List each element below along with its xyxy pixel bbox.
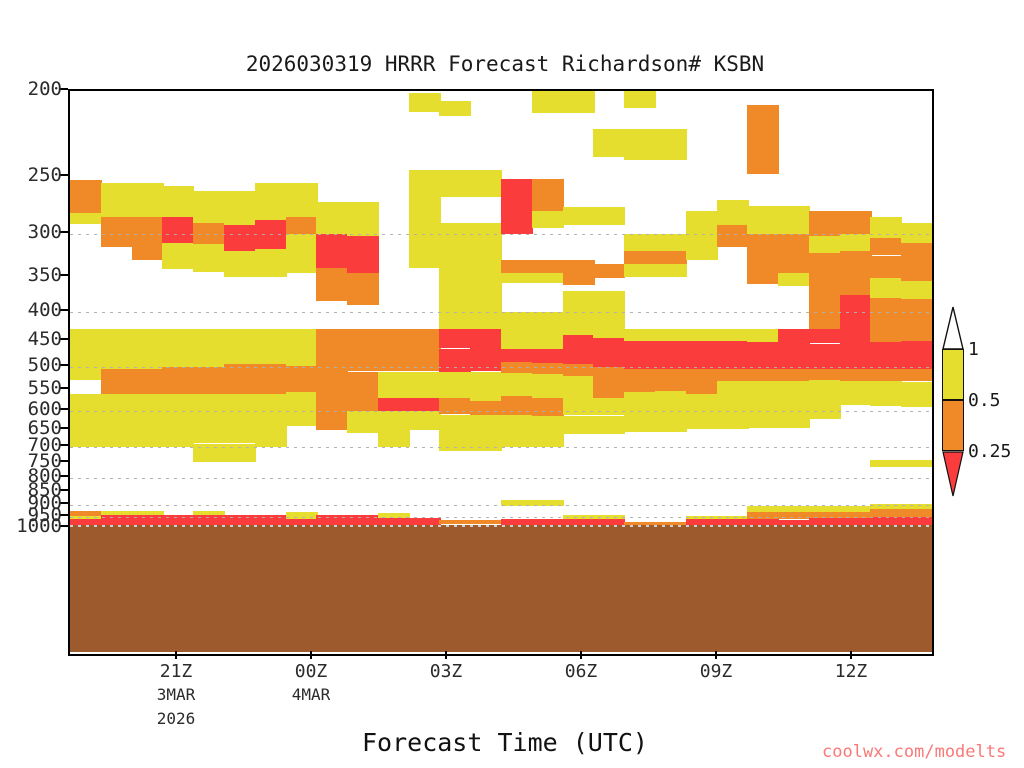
heatmap-cell: [439, 433, 471, 451]
x-tick-sublabel-date: 3MAR: [157, 685, 196, 704]
heatmap-cell: [532, 374, 564, 398]
heatmap-cell: [563, 312, 595, 335]
heatmap-cell: [593, 338, 625, 367]
heatmap-cell: [193, 191, 225, 223]
heatmap-cell: [532, 349, 564, 363]
x-tick-label: 12Z: [835, 661, 868, 682]
heatmap-cell: [70, 329, 102, 380]
heatmap-cell: [501, 396, 533, 415]
heatmap-cell: [501, 312, 533, 335]
gridline: [70, 367, 932, 368]
heatmap-cell: [624, 251, 656, 264]
heatmap-cell: [501, 415, 533, 434]
heatmap-cell: [624, 264, 656, 277]
heatmap-cell: [563, 207, 595, 225]
heatmap-cell: [162, 217, 194, 243]
heatmap-cell: [439, 101, 471, 116]
heatmap-cell: [840, 369, 872, 381]
heatmap-cell: [747, 206, 779, 235]
heatmap-cell: [901, 223, 933, 243]
heatmap-cell: [717, 200, 749, 225]
heatmap-cell: [686, 211, 718, 234]
heatmap-cell: [439, 415, 471, 434]
heatmap-cell: [624, 411, 656, 432]
heatmap-cell: [870, 278, 902, 298]
heatmap-cell: [809, 380, 841, 391]
heatmap-cell: [593, 416, 625, 434]
heatmap-cell: [624, 369, 656, 381]
gridline: [70, 447, 932, 448]
x-tick-sublabel-year: 2026: [157, 709, 196, 728]
heatmap-cell: [870, 393, 902, 406]
heatmap-cell: [316, 202, 348, 234]
colorbar-band-orange: [942, 400, 964, 451]
heatmap-cell: [901, 260, 933, 281]
heatmap-cell: [840, 251, 872, 277]
x-tick-label: 09Z: [700, 661, 733, 682]
watermark-link[interactable]: coolwx.com/modelts: [822, 742, 1006, 762]
heatmap-cell: [439, 329, 471, 348]
y-tick-label: 450: [0, 328, 62, 350]
heatmap-cell: [593, 379, 625, 399]
heatmap-cell: [563, 335, 595, 350]
x-tick-label: 21Z: [160, 661, 193, 682]
colorbar-label: 1: [968, 339, 979, 360]
colorbar-label: 0.5: [968, 390, 1001, 411]
heatmap-cell: [655, 129, 687, 160]
x-tick-mark: [310, 651, 312, 659]
colorbar-bottom-arrow: [942, 451, 964, 501]
gridline: [70, 505, 932, 506]
heatmap-cell: [624, 234, 656, 251]
heatmap-cell: [347, 372, 379, 397]
heatmap-cell: [655, 369, 687, 380]
heatmap-cell: [563, 364, 595, 376]
heatmap-cell: [563, 398, 595, 415]
heatmap-cell: [747, 342, 779, 369]
heatmap-cell: [809, 211, 841, 236]
heatmap-cell: [501, 349, 533, 362]
heatmap-cell: [439, 349, 471, 372]
heatmap-cell: [501, 273, 533, 283]
heatmap-cell: [378, 398, 410, 411]
heatmap-cell: [840, 277, 872, 295]
heatmap-cell: [593, 129, 625, 157]
page-title: 2026030319 HRRR Forecast Richardson# KSB…: [0, 52, 1010, 76]
heatmap-cell: [655, 341, 687, 369]
heatmap-cell: [901, 341, 933, 369]
heatmap-cell: [840, 234, 872, 251]
heatmap-cell: [870, 509, 902, 517]
heatmap-cell: [286, 392, 318, 426]
x-tick-label: 00Z: [295, 661, 328, 682]
heatmap-cell: [717, 411, 749, 429]
heatmap-cell: [532, 91, 564, 113]
y-tick-label: 1000: [0, 515, 62, 537]
ground-surface-bar: [70, 525, 932, 652]
heatmap-cell: [378, 411, 410, 433]
heatmap-cell: [686, 369, 718, 381]
heatmap-cell: [901, 394, 933, 407]
heatmap-cell: [501, 260, 533, 273]
heatmap-cell: [101, 217, 133, 234]
heatmap-cell: [809, 369, 841, 380]
heatmap-cell: [532, 273, 564, 283]
heatmap-cell: [501, 217, 533, 234]
heatmap-cell: [132, 183, 164, 217]
heatmap-cell: [193, 367, 225, 394]
heatmap-cell: [717, 329, 749, 341]
heatmap-cell: [870, 256, 902, 279]
heatmap-cell: [624, 381, 656, 392]
heatmap-cell: [162, 367, 194, 394]
heatmap-cell: [686, 341, 718, 369]
heatmap-cell: [809, 329, 841, 343]
heatmap-cell: [840, 392, 872, 405]
y-tick-label: 250: [0, 164, 62, 186]
heatmap-cell: [132, 369, 164, 394]
heatmap-cell: [532, 179, 564, 211]
heatmap-cell: [193, 244, 225, 272]
heatmap-cell: [901, 324, 933, 341]
heatmap-cell: [70, 213, 102, 224]
heatmap-cell: [132, 329, 164, 369]
heatmap-cell: [717, 394, 749, 411]
heatmap-cell: [870, 342, 902, 369]
heatmap-cell: [101, 183, 133, 217]
heatmap-cell: [101, 511, 133, 515]
heatmap-cell: [316, 268, 348, 301]
heatmap-cell: [840, 211, 872, 234]
y-tick-label: 200: [0, 78, 62, 100]
y-tick-label: 350: [0, 264, 62, 286]
heatmap-cell: [655, 411, 687, 432]
heatmap-cell: [686, 394, 718, 411]
heatmap-cell: [347, 273, 379, 305]
heatmap-cell: [470, 372, 502, 401]
heatmap-cell: [378, 372, 410, 399]
heatmap-cell: [686, 411, 718, 429]
heatmap-cell: [286, 217, 318, 234]
heatmap-cell: [655, 251, 687, 264]
heatmap-cell: [224, 251, 256, 277]
heatmap-cell: [70, 394, 102, 447]
heatmap-cell: [470, 415, 502, 434]
heatmap-cell: [840, 313, 872, 329]
gridline: [70, 478, 932, 479]
heatmap-cell: [286, 366, 318, 392]
heatmap-cell: [901, 369, 933, 381]
colorbar-top-arrow-outline: [942, 306, 964, 354]
x-tick-label: 03Z: [430, 661, 463, 682]
heatmap-cell: [655, 264, 687, 277]
heatmap-cell: [347, 236, 379, 273]
heatmap-cell: [901, 509, 933, 517]
y-tick-label: 550: [0, 377, 62, 399]
heatmap-cell: [316, 329, 348, 369]
heatmap-cell: [624, 91, 656, 108]
heatmap-cell: [255, 249, 287, 277]
heatmap-cell: [286, 183, 318, 217]
heatmap-cell: [101, 234, 133, 247]
heatmap-cell: [809, 236, 841, 253]
heatmap-cell: [870, 298, 902, 312]
heatmap-cell: [840, 329, 872, 345]
gridline: [70, 517, 932, 518]
heatmap-cell: [409, 234, 441, 268]
heatmap-cell: [70, 180, 102, 213]
heatmap-cell: [747, 234, 779, 268]
heatmap-cell: [439, 223, 471, 269]
heatmap-cell: [747, 268, 779, 284]
heatmap-cell: [686, 234, 718, 260]
x-tick-mark: [175, 651, 177, 659]
richardson-number-colorbar: 10.50.25: [938, 306, 1024, 486]
heatmap-cell: [470, 433, 502, 451]
x-tick-label: 06Z: [565, 661, 598, 682]
x-tick-mark: [580, 651, 582, 659]
heatmap-cell: [132, 511, 164, 515]
heatmap-cell: [224, 364, 256, 394]
heatmap-cell: [563, 416, 595, 434]
heatmap-cell: [101, 394, 133, 447]
heatmap-cell: [193, 511, 225, 515]
heatmap-cell: [286, 329, 318, 366]
heatmap-cell: [101, 329, 133, 369]
heatmap-cell: [809, 391, 841, 405]
heatmap-cell: [470, 329, 502, 371]
heatmap-cell: [532, 398, 564, 416]
heatmap-cell: [593, 264, 625, 278]
heatmap-cell: [470, 268, 502, 329]
heatmap-cell: [563, 260, 595, 277]
heatmap-cell: [532, 416, 564, 434]
heatmap-cell: [840, 345, 872, 369]
heatmap-cell: [378, 329, 410, 371]
heatmap-cell: [224, 191, 256, 225]
heatmap-cell: [563, 350, 595, 364]
heatmap-cell: [532, 312, 564, 335]
heatmap-cell: [563, 91, 595, 113]
heatmap-cell: [470, 170, 502, 197]
heatmap-cell: [316, 369, 348, 394]
heatmap-cell: [347, 411, 379, 433]
heatmap-cell: [655, 329, 687, 341]
heatmap-cell: [747, 381, 779, 394]
heatmap-cell: [747, 129, 779, 174]
heatmap-cell: [470, 401, 502, 415]
heatmap-cell: [255, 394, 287, 447]
x-tick-sublabel-date: 4MAR: [292, 685, 331, 704]
gridline: [70, 411, 932, 412]
heatmap-cell: [624, 329, 656, 341]
heatmap-cell: [439, 170, 471, 197]
heatmap-cell: [132, 394, 164, 447]
heatmap-cell: [439, 520, 471, 524]
heatmap-cell: [255, 329, 287, 364]
heatmap-cell: [101, 369, 133, 394]
heatmap-cell: [593, 367, 625, 379]
heatmap-cell: [347, 396, 379, 411]
heatmap-cell: [747, 411, 779, 428]
heatmap-cell: [901, 460, 933, 467]
heatmap-cell: [286, 234, 318, 273]
heatmap-cell: [901, 382, 933, 394]
heatmap-cell: [347, 329, 379, 371]
heatmap-cell: [439, 372, 471, 399]
heatmap-cell: [809, 278, 841, 292]
heatmap-cell: [501, 335, 533, 349]
gridline: [70, 234, 932, 235]
heatmap-cell: [409, 398, 441, 411]
heatmap-cell: [193, 329, 225, 367]
heatmap-cell: [655, 380, 687, 391]
heatmap-cell: [532, 211, 564, 228]
chart-canvas: 2026030319 HRRR Forecast Richardson# KSB…: [0, 0, 1024, 768]
heatmap-cell: [162, 394, 194, 447]
heatmap-cell: [162, 329, 194, 367]
heatmap-cell: [532, 433, 564, 447]
heatmap-cell: [501, 179, 533, 217]
heatmap-cell: [870, 460, 902, 467]
heatmap-cell: [901, 281, 933, 300]
heatmap-cell: [470, 223, 502, 269]
heatmap-cell: [162, 243, 194, 269]
heatmap-cell: [901, 312, 933, 324]
heatmap-cell: [717, 369, 749, 381]
heatmap-cell: [224, 394, 256, 443]
heatmap-cell: [132, 238, 164, 260]
heatmap-cell: [532, 363, 564, 374]
heatmap-cell: [255, 364, 287, 394]
heatmap-cell: [778, 381, 810, 394]
heatmap-cell: [563, 291, 595, 312]
heatmap-cell: [901, 299, 933, 312]
gridline: [70, 312, 932, 313]
heatmap-cell: [809, 312, 841, 329]
heatmap-cell: [409, 170, 441, 234]
heatmap-cell: [224, 225, 256, 251]
heatmap-cell: [409, 411, 441, 430]
heatmap-cell: [901, 243, 933, 260]
heatmap-cell: [778, 342, 810, 369]
heatmap-cell: [870, 312, 902, 327]
heatmap-cell: [378, 433, 410, 447]
heatmap-cell: [224, 329, 256, 364]
heatmap-cell: [747, 369, 779, 381]
heatmap-cell: [532, 335, 564, 349]
heatmap-cell: [563, 277, 595, 285]
heatmap-cell: [809, 253, 841, 278]
colorbar-band-yellow: [942, 349, 964, 400]
heatmap-cell: [870, 327, 902, 343]
y-tick-label: 300: [0, 221, 62, 243]
heatmap-cell: [778, 329, 810, 342]
heatmap-cell: [593, 312, 625, 338]
heatmap-cell: [316, 234, 348, 268]
heatmap-cell: [717, 341, 749, 369]
heatmap-cell: [255, 183, 287, 221]
heatmap-cell: [532, 260, 564, 273]
heatmap-cell: [655, 234, 687, 251]
heatmap-cell: [409, 372, 441, 399]
heatmap-cell: [501, 373, 533, 397]
heatmap-cell: [593, 207, 625, 225]
y-tick-label: 500: [0, 354, 62, 376]
heatmap-cell: [778, 369, 810, 381]
heatmap-cell: [409, 329, 441, 371]
heatmap-cell: [717, 381, 749, 394]
colorbar-label: 0.25: [968, 441, 1011, 462]
heatmap-cell: [686, 381, 718, 394]
heatmap-cell: [809, 405, 841, 419]
heatmap-cell: [840, 381, 872, 392]
heatmap-cell: [624, 392, 656, 411]
heatmap-cell: [778, 394, 810, 411]
x-tick-mark: [850, 651, 852, 659]
heatmap-cell: [747, 329, 779, 342]
heatmap-cell: [809, 292, 841, 312]
heatmap-cell: [686, 329, 718, 341]
heatmap-cell: [501, 433, 533, 447]
heatmap-cell: [655, 391, 687, 411]
heatmap-cell: [870, 369, 902, 381]
heatmap-cell: [593, 291, 625, 312]
heatmap-cell: [747, 105, 779, 129]
heatmap-cell: [778, 273, 810, 286]
heatmap-cell: [593, 398, 625, 415]
heatmap-cell: [778, 411, 810, 428]
heatmap-cell: [470, 520, 502, 524]
heatmap-cell: [347, 202, 379, 236]
y-tick-label: 400: [0, 299, 62, 321]
heatmap-cell: [409, 93, 441, 112]
heatmap-cell: [778, 234, 810, 273]
heatmap-cell: [624, 341, 656, 369]
heatmap-cell: [717, 225, 749, 247]
x-tick-mark: [715, 651, 717, 659]
heatmap-cell: [747, 394, 779, 411]
x-tick-mark: [445, 651, 447, 659]
heatmap-cell: [316, 394, 348, 430]
plot-area: [68, 89, 934, 656]
heatmap-cell: [624, 129, 656, 160]
heatmap-cell: [870, 238, 902, 255]
heatmap-cell: [778, 206, 810, 235]
heatmap-cell: [162, 186, 194, 217]
heatmap-cell: [439, 268, 471, 329]
heatmap-cell: [193, 394, 225, 443]
ground-dotted-line: [70, 525, 932, 527]
heatmap-cell: [563, 376, 595, 398]
